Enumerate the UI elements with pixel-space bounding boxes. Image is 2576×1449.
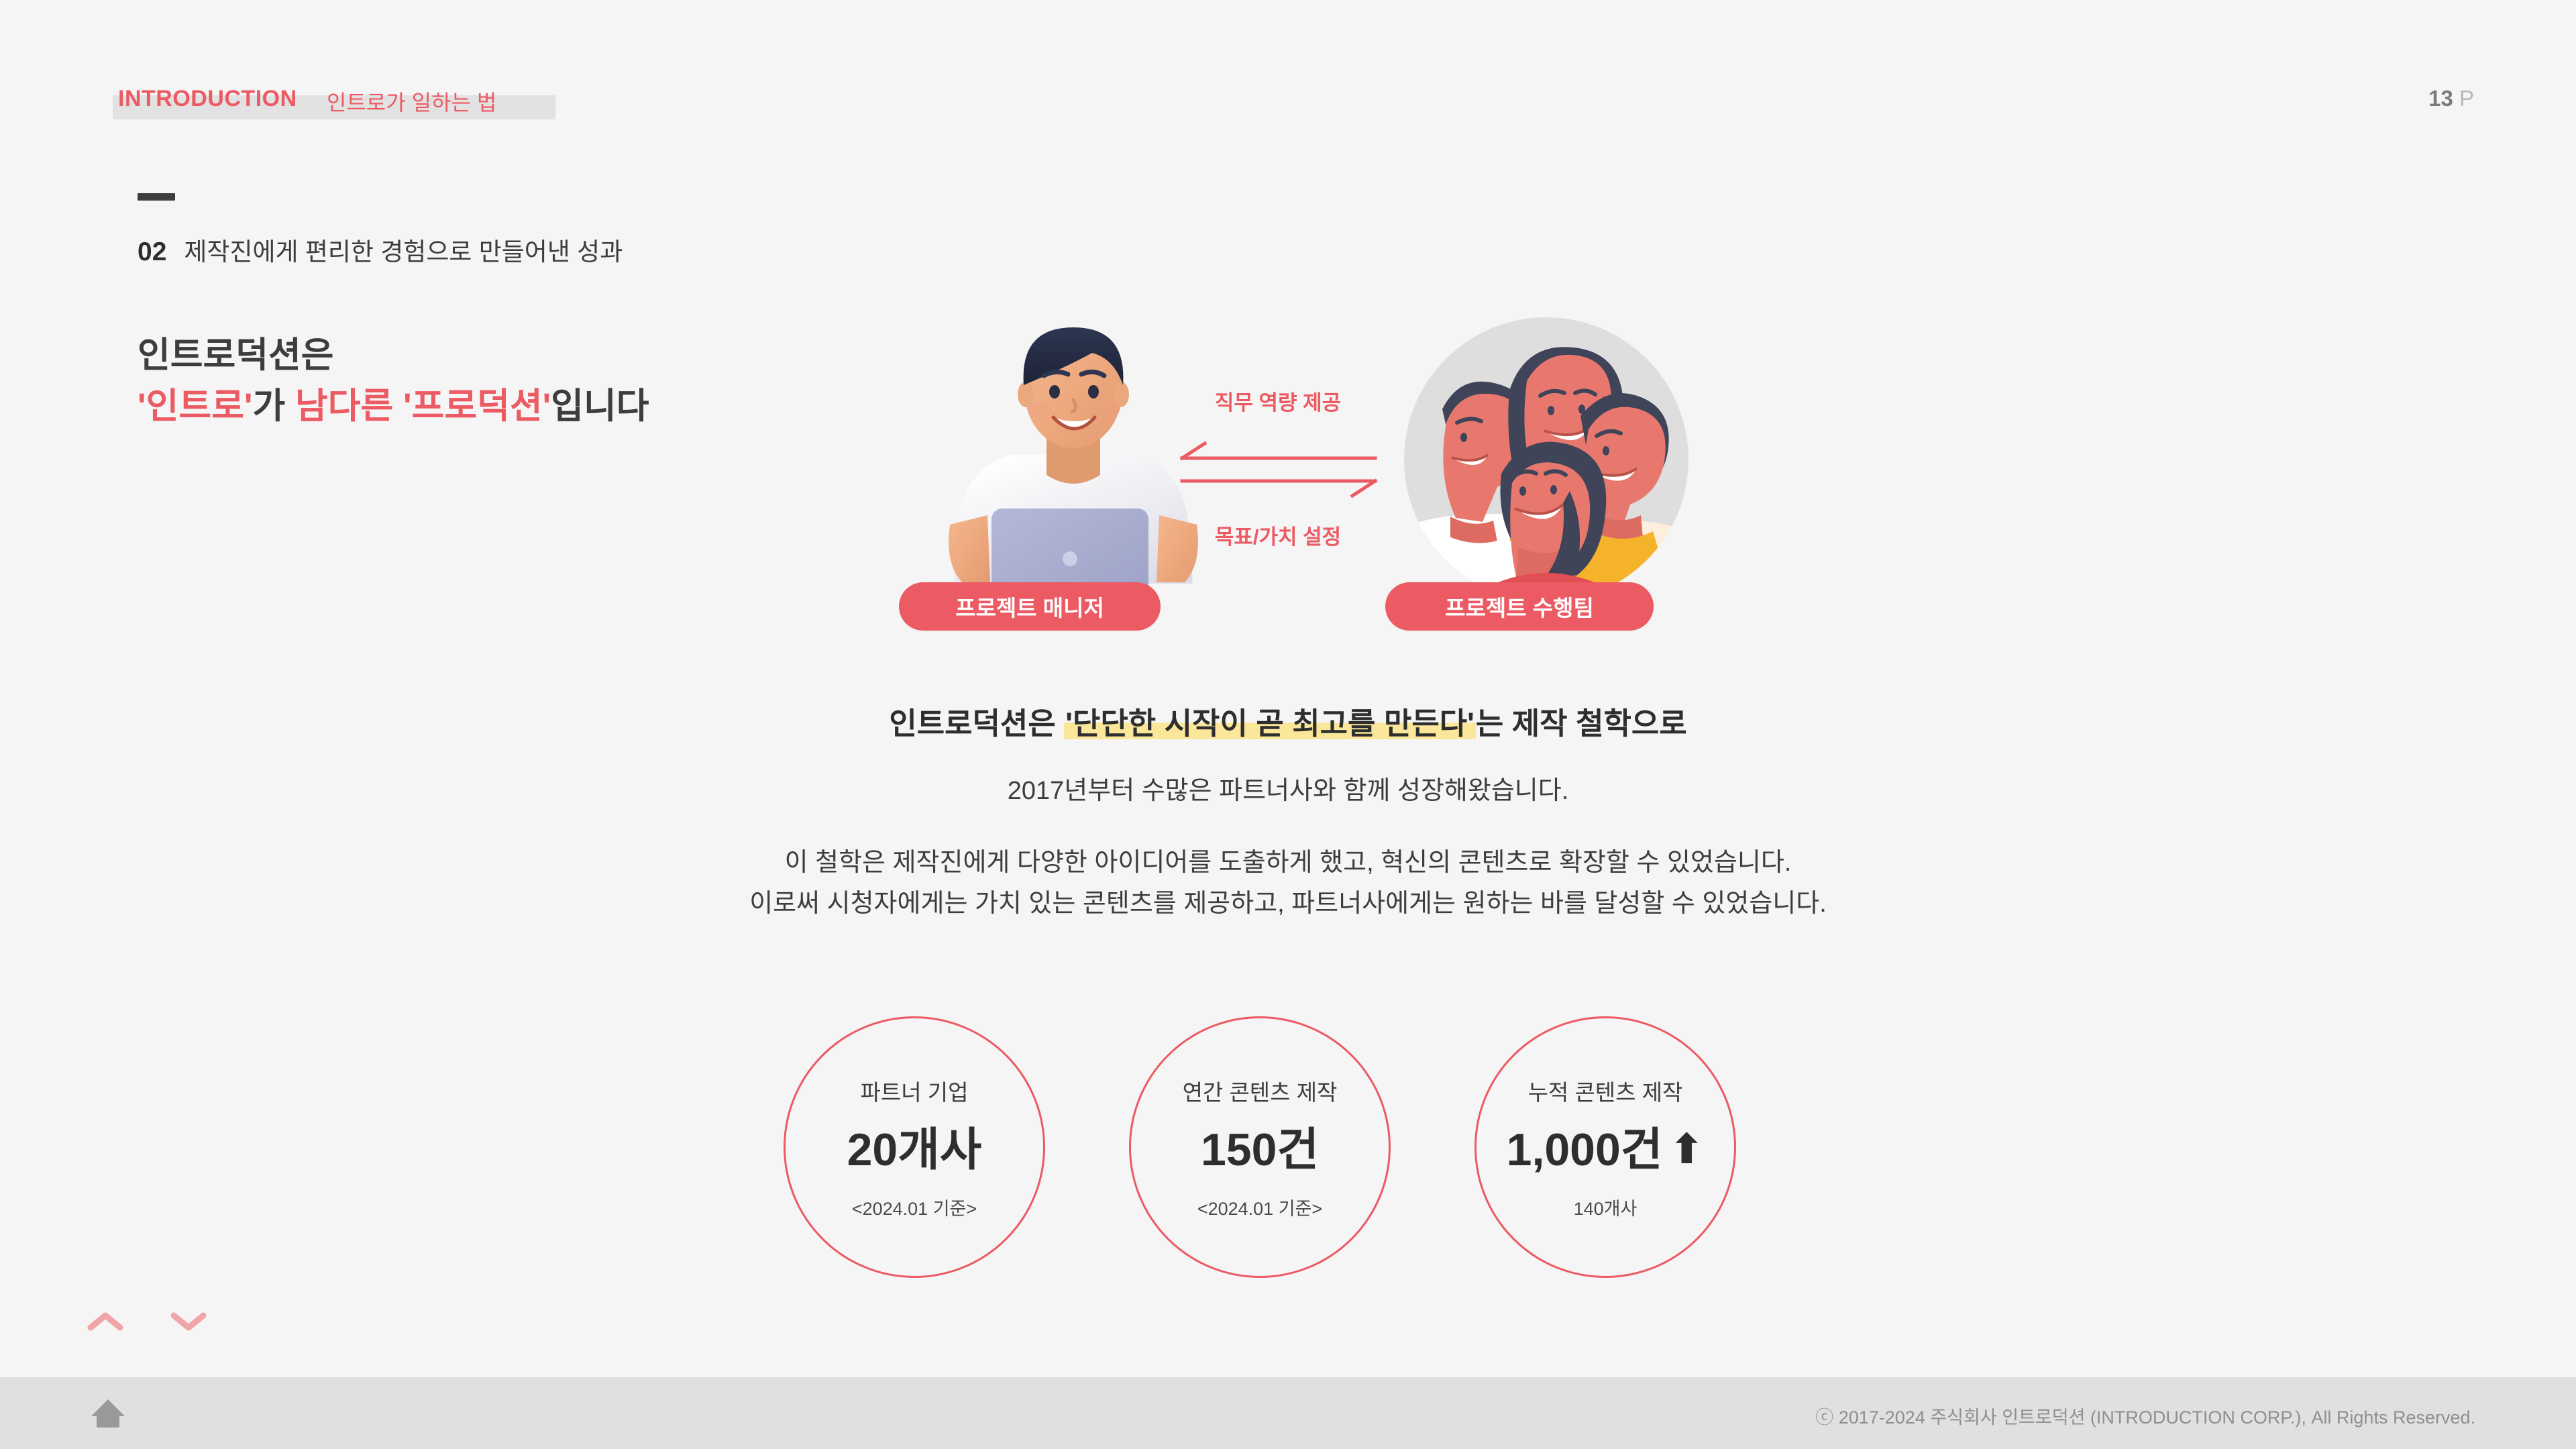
stat-value-text: 1,000건 [1507,1127,1663,1173]
headline-tail: 입니다 [551,386,649,426]
lead-after: 는 제작 철학으로 [1476,706,1687,741]
home-glyph [90,1397,126,1430]
stat-note: 140개사 [1574,1194,1638,1220]
slide-navigation [80,1305,213,1338]
arrow-label-bottom: 목표/가치 설정 [1167,520,1389,550]
stat-circle-annual-content: 연간 콘텐츠 제작 150건 <2024.01 기준> [1129,1016,1391,1278]
arrow-label-top: 직무 역량 제공 [1167,386,1389,416]
stat-label: 연간 콘텐츠 제작 [1183,1075,1338,1107]
slide-footer: ⓒ 2017-2024 주식회사 인트로덕션 (INTRODUCTION COR… [0,1377,2576,1449]
copyright-text: ⓒ 2017-2024 주식회사 인트로덕션 (INTRODUCTION COR… [1815,1403,2475,1429]
stat-note: <2024.01 기준> [852,1194,977,1220]
stat-note: <2024.01 기준> [1197,1194,1322,1220]
headline-line-2: '인트로'가 남다른 '프로덕션'입니다 [138,381,649,432]
sub-statement: 2017년부터 수많은 파트너사와 함께 성장해왔습니다. [0,772,2576,810]
stat-label: 파트너 기업 [861,1075,969,1107]
lead-highlight: '단단한 시작이 곧 최고를 만든다' [1064,706,1476,741]
headline-intro-emph: '인트로' [138,386,253,426]
slide-header: INTRODUCTION 인트로가 일하는 법 13 P [0,0,2576,148]
section-title: 제작진에게 편리한 경험으로 만들어낸 성과 [184,231,623,268]
stat-circle-total-content: 누적 콘텐츠 제작 1,000건 ⬆ 140개사 [1474,1016,1736,1278]
slide-root: INTRODUCTION 인트로가 일하는 법 13 P 02 제작진에게 편리… [0,0,2576,1449]
chevron-up-glyph [87,1310,124,1333]
section-number: 02 [138,237,166,267]
header-subtitle: 인트로가 일하는 법 [327,86,496,117]
body-copy: 인트로덕션은 '단단한 시작이 곧 최고를 만든다'는 제작 철학으로 2017… [0,701,2576,925]
page-number-unit: P [2459,86,2474,111]
headline-line-1: 인트로덕션은 [138,330,649,381]
headline-particle: 가 [253,386,296,426]
chevron-down-glyph [170,1310,207,1333]
lead-statement: 인트로덕션은 '단단한 시작이 곧 최고를 만든다'는 제작 철학으로 [0,701,2576,747]
stat-label: 누적 콘텐츠 제작 [1528,1075,1683,1107]
stat-value-text: 20개사 [847,1127,982,1173]
illustration-area: 프로젝트 매니저 프로젝트 수행팀 직무 역량 제공 목표/가치 설정 [892,315,1764,664]
pill-project-manager: 프로젝트 매니저 [899,582,1161,631]
stat-value: 150건 [1201,1127,1319,1173]
project-team-illustration [1402,315,1690,610]
stat-circle-group: 파트너 기업 20개사 <2024.01 기준> 연간 콘텐츠 제작 150건 … [784,1016,1736,1278]
paragraph-2: 이로써 시청자에게는 가치 있는 콘텐츠를 제공하고, 파트너사에게는 원하는 … [0,883,2576,925]
stat-value: 20개사 [847,1127,982,1173]
headline-production-emph: 남다른 '프로덕션' [295,386,551,426]
chevron-down-icon[interactable] [164,1305,213,1338]
section-dash [138,193,175,201]
headline: 인트로덕션은 '인트로'가 남다른 '프로덕션'입니다 [138,330,649,433]
arrow-up-icon: ⬆ [1669,1129,1704,1171]
page-number: 13 P [2428,86,2474,111]
home-icon[interactable] [90,1397,126,1430]
team-figure-svg [1402,315,1690,610]
stat-circle-partners: 파트너 기업 20개사 <2024.01 기준> [784,1016,1045,1278]
stat-value-text: 150건 [1201,1127,1319,1173]
chevron-up-icon[interactable] [80,1305,130,1338]
pill-project-team: 프로젝트 수행팀 [1385,582,1654,631]
header-eyebrow: INTRODUCTION [118,86,297,112]
arrow-pair-icon [1167,439,1389,513]
exchange-arrows: 직무 역량 제공 목표/가치 설정 [1167,386,1389,560]
lead-before: 인트로덕션은 [889,706,1064,741]
stat-value: 1,000건 ⬆ [1507,1127,1705,1173]
section-heading: 02 제작진에게 편리한 경험으로 만들어낸 성과 [138,231,623,268]
paragraph-1: 이 철학은 제작진에게 다양한 아이디어를 도출하게 했고, 혁신의 콘텐츠로 … [0,843,2576,884]
page-number-value: 13 [2428,86,2453,111]
